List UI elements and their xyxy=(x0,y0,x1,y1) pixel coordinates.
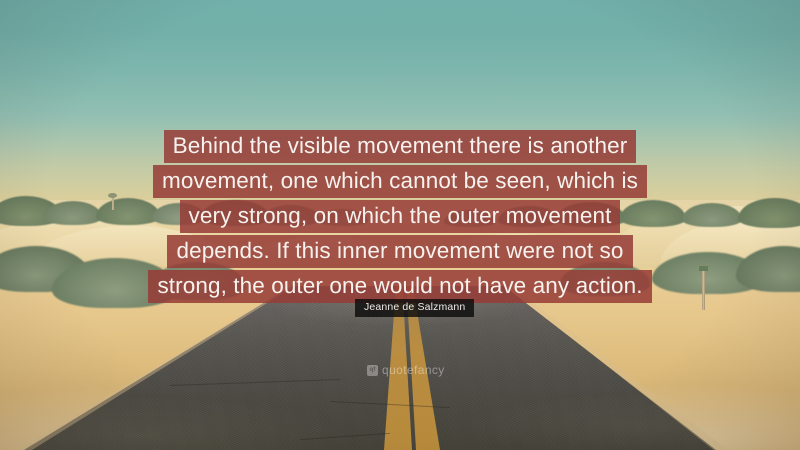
watermark-logo-text: qf xyxy=(370,367,376,373)
quote-block: Behind the visible movement there is ano… xyxy=(0,130,800,305)
watermark-text: quotefancy xyxy=(382,364,445,376)
quote-line: very strong, on which the outer movement xyxy=(180,200,621,233)
quote-line: movement, one which cannot be seen, whic… xyxy=(153,165,647,198)
quote-line: Behind the visible movement there is ano… xyxy=(164,130,637,163)
quotefancy-logo-icon: qf xyxy=(367,365,378,376)
quote-line: depends. If this inner movement were not… xyxy=(167,235,632,268)
quote-author: Jeanne de Salzmann xyxy=(355,299,474,317)
watermark: qf quotefancy xyxy=(367,364,445,376)
quote-poster-image: Behind the visible movement there is ano… xyxy=(0,0,800,450)
